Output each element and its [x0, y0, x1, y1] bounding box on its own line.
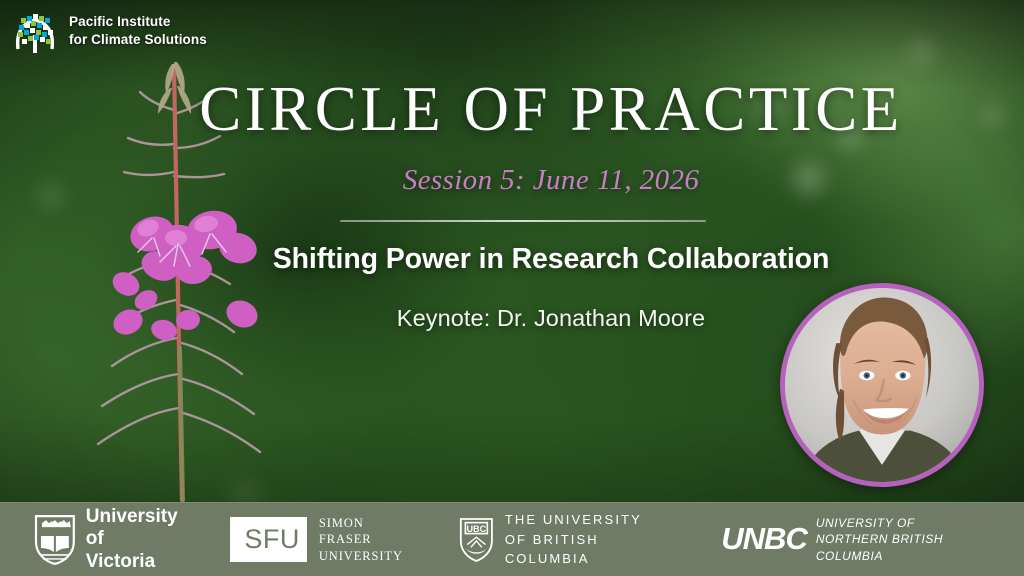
sfu-name-line1: SIMON FRASER	[319, 515, 411, 548]
speaker-portrait-illustration	[785, 288, 979, 482]
uvic-name-line2: of Victoria	[86, 528, 178, 572]
unbc-name-line2: NORTHERN BRITISH COLUMBIA	[816, 531, 990, 564]
pics-logo[interactable]: Pacific Institute for Climate Solutions	[12, 9, 207, 53]
sfu-name-line2: UNIVERSITY	[319, 548, 411, 564]
ubc-shield-crest-icon: UBC	[459, 515, 494, 565]
event-slide: Pacific Institute for Climate Solutions …	[0, 0, 1024, 576]
svg-text:UBC: UBC	[467, 523, 487, 533]
partner-logo-uvic[interactable]: University of Victoria	[34, 506, 178, 572]
session-subtitle: Session 5: June 11, 2026	[0, 166, 1024, 195]
unbc-name-line1: UNIVERSITY OF	[816, 515, 990, 532]
partner-footer: University of Victoria SFU SIMON FRASER …	[0, 502, 1024, 576]
partner-logo-row: University of Victoria SFU SIMON FRASER …	[0, 506, 1024, 572]
unbc-monogram: UNBC	[721, 521, 807, 557]
event-title: CIRCLE OF PRACTICE	[0, 78, 1024, 141]
partner-logo-ubc[interactable]: UBC THE UNIVERSITY OF BRITISH COLUMBIA	[459, 510, 673, 569]
partner-logo-sfu[interactable]: SFU SIMON FRASER UNIVERSITY	[230, 515, 411, 564]
ubc-name-line2: OF BRITISH COLUMBIA	[505, 530, 673, 569]
pics-woven-tree-icon	[12, 9, 58, 53]
ubc-wordmark: THE UNIVERSITY OF BRITISH COLUMBIA	[505, 510, 673, 569]
pics-logo-wordmark: Pacific Institute for Climate Solutions	[69, 13, 207, 49]
uvic-name-line1: University	[86, 506, 178, 528]
session-topic: Shifting Power in Research Collaboration	[0, 245, 1024, 274]
pics-name-line1: Pacific Institute	[69, 13, 207, 31]
divider	[340, 220, 706, 222]
uvic-wordmark: University of Victoria	[86, 506, 178, 572]
ubc-name-line1: THE UNIVERSITY	[505, 510, 673, 530]
sfu-wordmark: SIMON FRASER UNIVERSITY	[319, 515, 411, 564]
sfu-monogram-box: SFU	[230, 517, 307, 562]
speaker-headshot-avatar	[780, 283, 984, 487]
partner-logo-unbc[interactable]: UNBC UNIVERSITY OF NORTHERN BRITISH COLU…	[721, 515, 990, 565]
sfu-monogram: SFU	[244, 524, 300, 555]
uvic-shield-crest-icon	[34, 514, 76, 566]
pics-name-line2: for Climate Solutions	[69, 31, 207, 49]
unbc-wordmark: UNIVERSITY OF NORTHERN BRITISH COLUMBIA	[816, 515, 990, 565]
